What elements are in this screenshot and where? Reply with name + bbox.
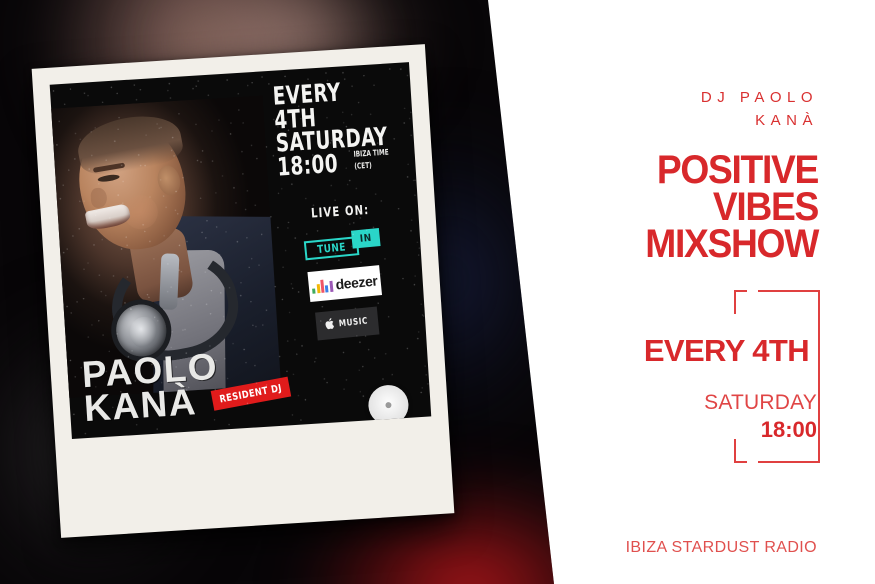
deezer-bar <box>316 284 320 293</box>
bracket-bottom-edge <box>758 461 820 463</box>
station-name: IBIZA STARDUST RADIO <box>626 539 817 557</box>
live-on-label: LIVE ON: <box>280 201 401 224</box>
tunein-logo-in-text: IN <box>359 232 372 244</box>
schedule-time: 18:00 <box>277 151 339 178</box>
headphones-arm <box>159 253 179 310</box>
streaming-platform-logos: TUNE IN deezer <box>272 227 418 342</box>
timezone-line-2: (CET) <box>354 160 390 174</box>
deezer-bar <box>329 280 333 291</box>
deezer-logo[interactable]: deezer <box>307 265 382 302</box>
bracket-bottom-left-corner <box>734 461 747 463</box>
artist-last-name: KANÀ <box>83 385 198 426</box>
bracket-top-edge <box>758 290 820 292</box>
schedule-weekday: SATURDAY <box>704 391 817 415</box>
right-content-panel: DJ PAOLO KANÀ POSITIVE VIBES MIXSHOW EVE… <box>560 0 875 584</box>
deezer-equalizer-icon <box>311 278 333 293</box>
kicker-text: DJ PAOLO KANÀ <box>558 86 818 133</box>
apple-music-logo[interactable]: MUSIC <box>315 307 379 341</box>
deezer-bar <box>325 285 329 292</box>
kicker-line-2: KANÀ <box>558 109 818 132</box>
show-title-line-2: MIXSHOW <box>558 226 818 263</box>
schedule-time: 18:00 <box>761 417 817 443</box>
bracket-right-edge <box>818 290 820 463</box>
poster-canvas: EVERY 4TH SATURDAY 18:00 IBIZA TIME (CET… <box>0 0 875 584</box>
schedule-block: EVERY 4TH SATURDAY 18:00 IBIZA TIME (CET… <box>262 77 408 180</box>
deezer-bar <box>312 288 315 293</box>
deezer-bar <box>320 279 324 292</box>
bracket-left-bottom-stub <box>734 439 736 463</box>
dark-angled-panel: EVERY 4TH SATURDAY 18:00 IBIZA TIME (CET… <box>0 0 560 584</box>
bracket-top-left-corner <box>734 290 747 292</box>
bracket-left-top-stub <box>734 290 736 314</box>
deezer-logo-text: deezer <box>335 272 378 292</box>
schedule-headline: EVERY 4TH <box>644 333 809 369</box>
tunein-logo[interactable]: TUNE IN <box>303 228 381 261</box>
show-title: POSITIVE VIBES MIXSHOW <box>558 152 818 264</box>
poster-info-column: EVERY 4TH SATURDAY 18:00 IBIZA TIME (CET… <box>262 77 418 342</box>
polaroid-frame: EVERY 4TH SATURDAY 18:00 IBIZA TIME (CET… <box>32 44 455 538</box>
apple-icon <box>324 318 334 333</box>
apple-music-logo-text: MUSIC <box>338 317 368 330</box>
artist-name-block: PAOLO KANÀ RESIDENT DJ <box>81 338 415 427</box>
kicker-line-1: DJ PAOLO <box>558 86 818 109</box>
tunein-logo-tune-text: TUNE <box>317 240 347 256</box>
tunein-logo-in-box: IN <box>351 228 381 249</box>
show-title-line-1: POSITIVE VIBES <box>558 152 818 226</box>
schedule-timezone: IBIZA TIME (CET) <box>354 148 399 173</box>
poster-artwork: EVERY 4TH SATURDAY 18:00 IBIZA TIME (CET… <box>50 62 432 439</box>
